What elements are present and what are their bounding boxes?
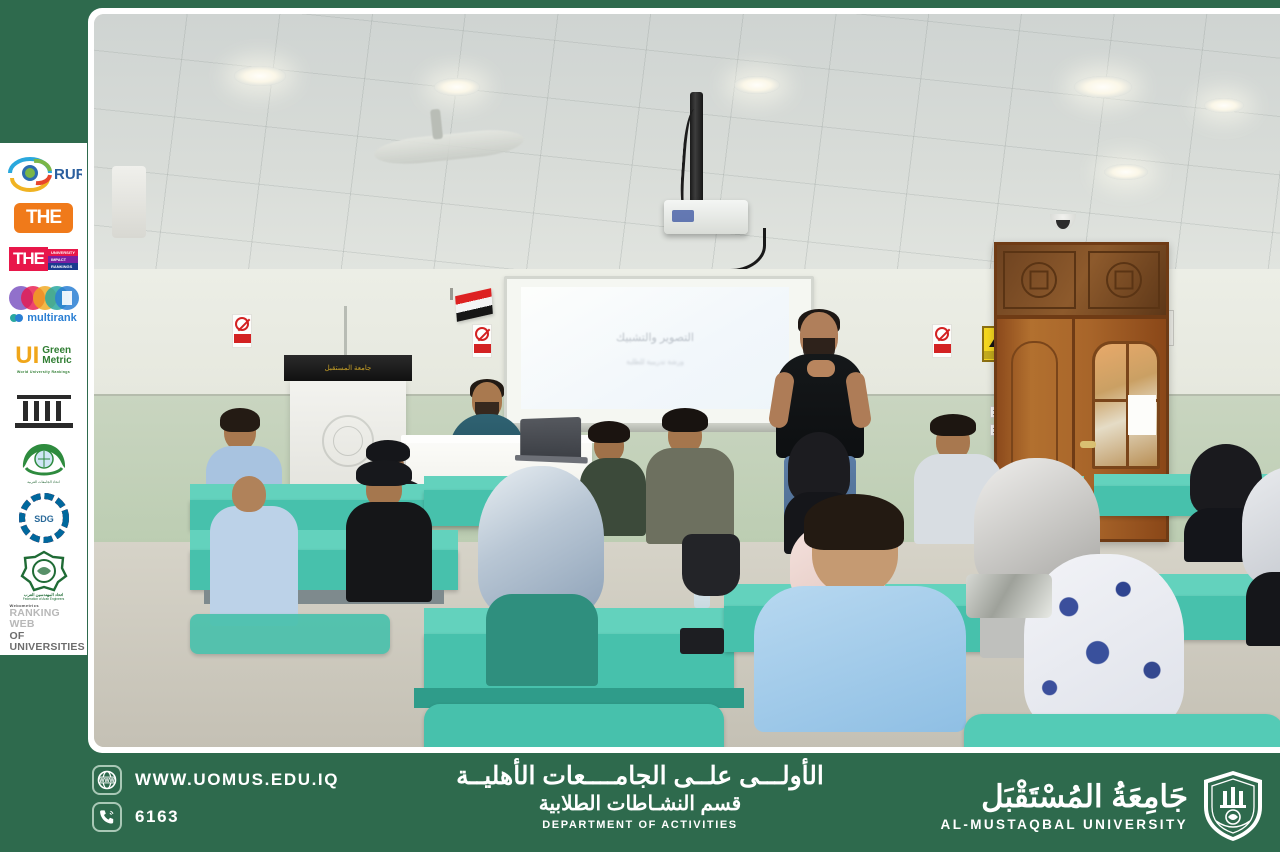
ranking-logo-rur: RUR <box>5 151 83 195</box>
ceiling-light <box>1204 98 1244 113</box>
slide-subtitle: ورشة تدريبية للطلبة <box>626 358 684 366</box>
door-transom <box>997 245 1166 319</box>
classroom-photo: التصوير والتشبيك ورشة تدريبية للطلبة <box>94 14 1280 747</box>
ceiling-light <box>734 76 780 94</box>
flag-pole <box>450 288 453 300</box>
student-hijab <box>1242 466 1280 646</box>
no-smoking-sign <box>232 314 252 348</box>
rankings-panel: RUR THE THE UNIVERSITY IMPACT RANKINGS <box>0 143 87 655</box>
no-smoking-sign <box>472 324 492 358</box>
ceiling-light <box>1074 76 1132 98</box>
projection-screen: التصوير والتشبيك ورشة تدريبية للطلبة <box>504 276 814 426</box>
brand-block: جَامِعَةُ المُسْتَقْبَل AL-MUSTAQBAL UNI… <box>941 769 1266 843</box>
door-notice-paper <box>1128 395 1156 435</box>
ranking-logo-arab-engineers: اتحاد المهندسين العرب Federation of Arab… <box>5 548 83 603</box>
ranking-logo-ui-greenmetric: UI GreenMetric World University Rankings <box>5 333 83 385</box>
foil-bag <box>966 574 1052 618</box>
chair-back <box>190 614 390 654</box>
chair-back <box>424 704 724 747</box>
sdg-label: SDG <box>34 514 54 524</box>
multirank-label: multirank <box>27 312 77 324</box>
handbag <box>682 534 740 596</box>
air-conditioner <box>112 166 146 238</box>
ranking-logo-sdg: SDG <box>5 492 83 544</box>
student-child <box>754 502 974 732</box>
ranking-logo-arab-universities: اتحاد الجامعات العربية <box>5 437 83 489</box>
ceiling-light <box>434 78 480 96</box>
podium-nameplate: جامعة المستقبل <box>284 355 412 381</box>
brand-name-english: AL-MUSTAQBAL UNIVERSITY <box>941 817 1188 832</box>
phone <box>680 628 724 654</box>
ceiling-light <box>1104 164 1148 180</box>
chair-back <box>964 714 1280 747</box>
university-crest-icon <box>1200 769 1266 843</box>
door-handle <box>1080 441 1096 448</box>
photo-frame: التصوير والتشبيك ورشة تدريبية للطلبة <box>88 8 1280 753</box>
the-label: THE <box>26 207 61 228</box>
ranking-logo-webometrics: Webometrics RANKING WEB OF UNIVERSITIES <box>5 607 83 649</box>
the-impact-label: THE <box>9 247 48 271</box>
ranking-logo-the: THE <box>5 199 83 239</box>
ceiling-light <box>234 66 286 86</box>
student <box>210 476 298 626</box>
ranking-logo-multirank: multirank <box>5 280 83 330</box>
student <box>646 412 734 544</box>
slide-title: التصوير والتشبيك <box>616 331 694 344</box>
podium-text: جامعة المستقبل <box>325 364 372 372</box>
slide-content: التصوير والتشبيك ورشة تدريبية للطلبة <box>521 287 789 409</box>
svg-text:RUR: RUR <box>54 166 82 183</box>
laptop <box>520 417 581 459</box>
brand-name-arabic: جَامِعَةُ المُسْتَقْبَل <box>941 781 1188 812</box>
footer: WWW WWW.UOMUS.EDU.IQ 6163 الأولـــى علــ… <box>0 753 1280 852</box>
student-hijab <box>478 466 604 686</box>
ranking-logo-the-impact: THE UNIVERSITY IMPACT RANKINGS <box>5 242 83 276</box>
student <box>346 462 432 602</box>
no-smoking-sign <box>932 324 952 358</box>
arab-universities-label: اتحاد الجامعات العربية <box>27 480 59 484</box>
ranking-logo-columns <box>5 389 83 433</box>
